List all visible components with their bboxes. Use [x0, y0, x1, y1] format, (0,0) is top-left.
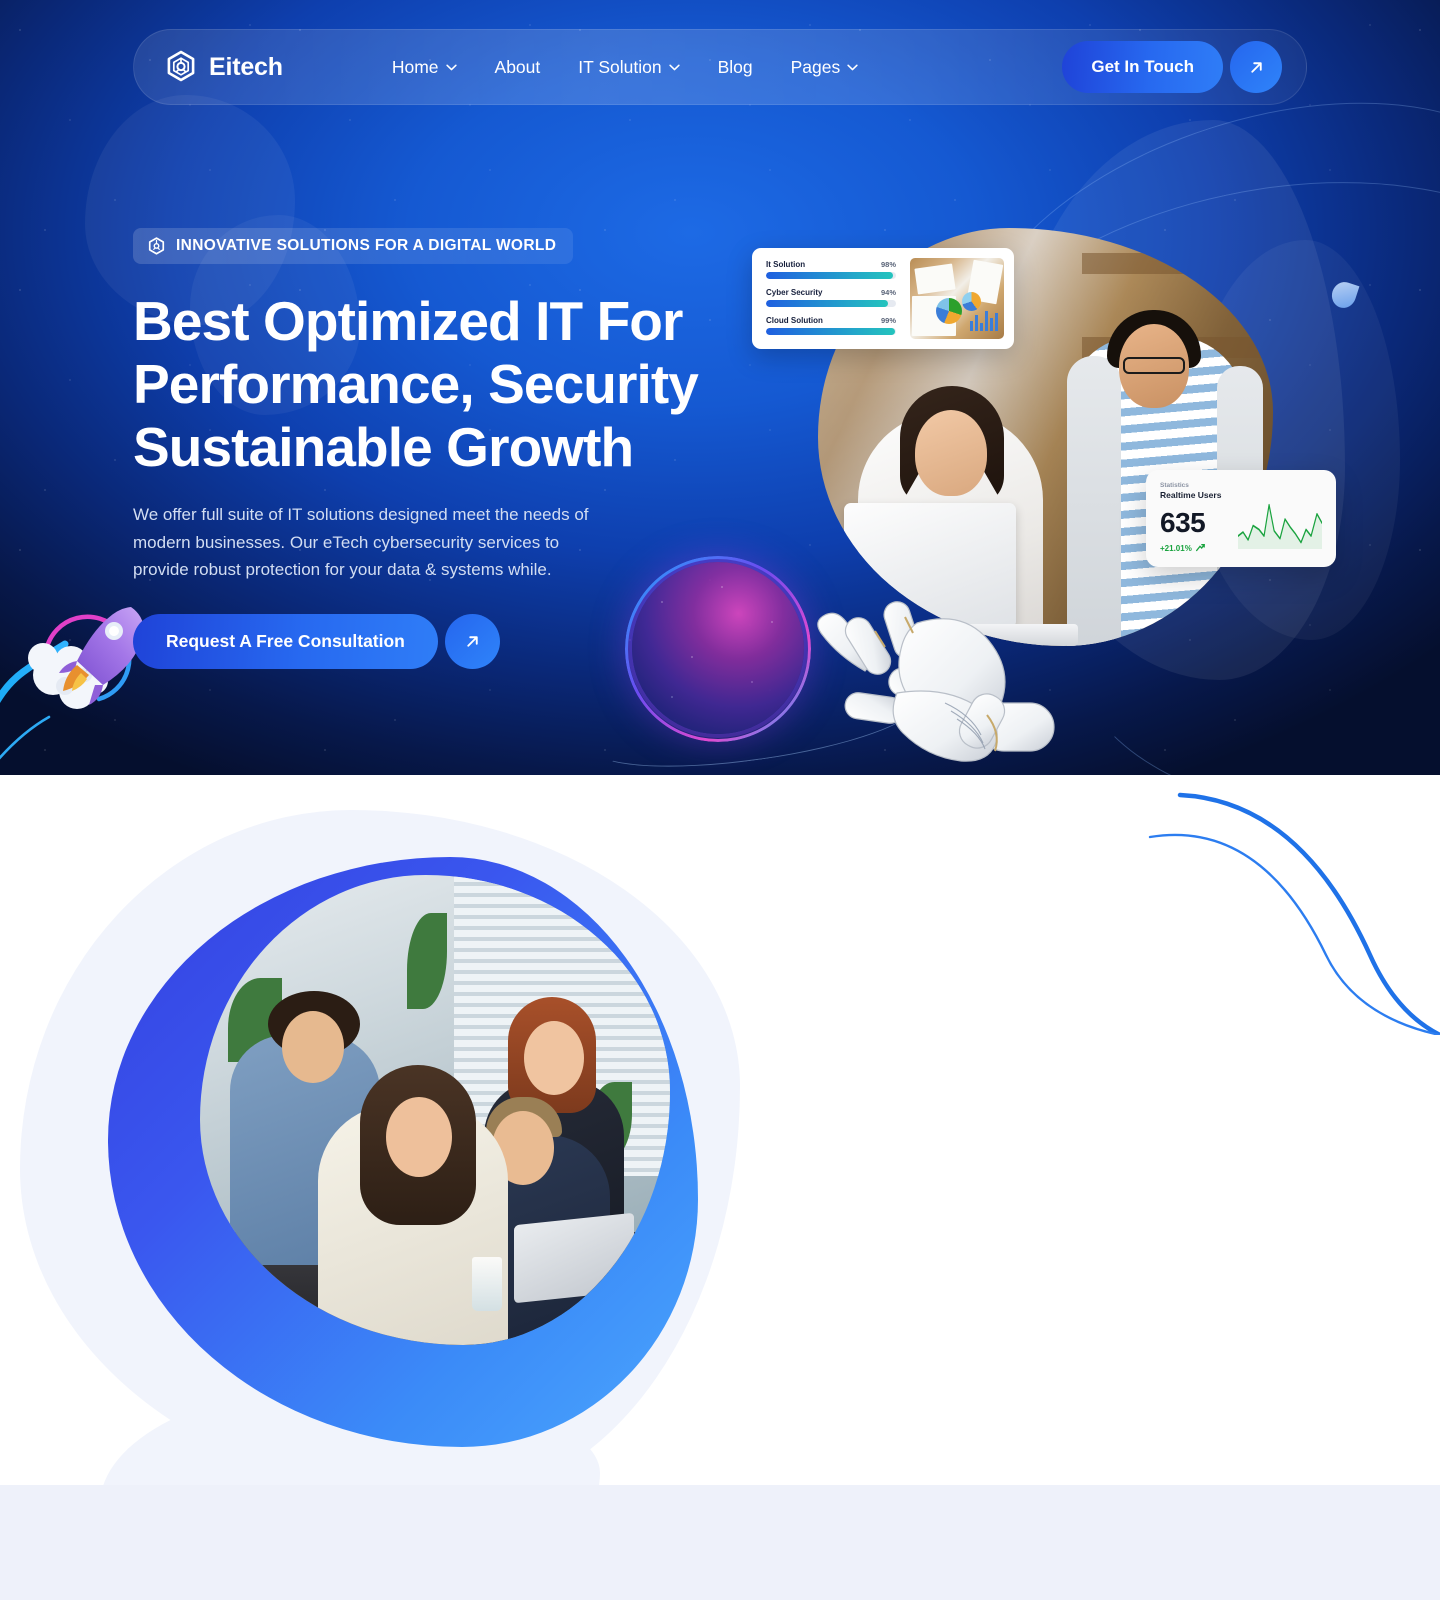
skill-value: 98%	[881, 260, 896, 269]
face	[524, 1021, 584, 1095]
stats-number: 635	[1160, 509, 1238, 537]
skill-label: It Solution	[766, 260, 805, 269]
skill-row: It Solution 98%	[766, 260, 910, 279]
hero-section: It Solution 98% Cyber Security 94% Cloud…	[0, 0, 1440, 775]
brand-name: Eitech	[209, 53, 283, 82]
stats-delta: +21.01%	[1160, 543, 1238, 553]
about-team-photo	[200, 875, 670, 1345]
analytics-photo	[910, 258, 1004, 339]
nav-item-pages[interactable]: Pages	[791, 57, 859, 78]
nav-item-label: About	[495, 57, 541, 78]
nav-item-label: Home	[392, 57, 439, 78]
hero-skills-card: It Solution 98% Cyber Security 94% Cloud…	[752, 248, 1014, 349]
arrow-up-right-icon	[1248, 59, 1265, 76]
skill-value: 94%	[881, 288, 896, 297]
stats-caption: Statistics	[1160, 482, 1238, 489]
meeting-photo	[200, 875, 670, 1345]
nav-item-home[interactable]: Home	[392, 57, 457, 78]
robot-hand-icon	[805, 575, 1060, 775]
hero-heading: Best Optimized IT For Performance, Secur…	[133, 290, 703, 479]
chevron-down-icon	[669, 64, 680, 71]
hero-cta-group: Request A Free Consultation	[133, 614, 733, 669]
skill-label: Cyber Security	[766, 288, 822, 297]
glasses-icon	[1123, 357, 1185, 374]
face	[386, 1097, 452, 1177]
hero-stats-card: Statistics Realtime Users 635 +21.01%	[1146, 470, 1336, 567]
skill-fill	[766, 300, 888, 307]
nav-item-blog[interactable]: Blog	[718, 57, 753, 78]
chevron-down-icon	[847, 64, 858, 71]
skill-fill	[766, 328, 895, 335]
face	[915, 410, 987, 496]
water-glass	[472, 1257, 502, 1311]
about-decor-curves	[1140, 775, 1440, 1035]
hero-paragraph: We offer full suite of IT solutions desi…	[133, 501, 603, 584]
skill-track	[766, 300, 896, 307]
hexagon-logo-icon	[164, 50, 198, 84]
skill-track	[766, 272, 896, 279]
cardigan-left	[1067, 356, 1121, 646]
nav-item-label: Blog	[718, 57, 753, 78]
nav-links: Home About IT Solution Blog Pages	[392, 57, 858, 78]
get-in-touch-button[interactable]: Get In Touch	[1062, 41, 1223, 93]
nav-item-label: Pages	[791, 57, 841, 78]
skill-label: Cloud Solution	[766, 316, 823, 325]
hexagon-logo-icon	[147, 237, 166, 256]
hero-content: INNOVATIVE SOLUTIONS FOR A DIGITAL WORLD…	[133, 228, 733, 669]
realtime-users-sparkline	[1238, 482, 1322, 555]
about-section: ABOUT ETECH IT SOLUTION Dedicated To Del…	[0, 775, 1440, 1485]
skill-row: Cloud Solution 99%	[766, 316, 910, 335]
stats-title: Realtime Users	[1160, 490, 1238, 500]
brand[interactable]: Eitech	[164, 50, 283, 84]
bottom-section-strip	[0, 1485, 1440, 1600]
trend-up-icon	[1195, 543, 1205, 553]
skill-track	[766, 328, 896, 335]
stats-delta-value: +21.01%	[1160, 544, 1192, 553]
hero-eyebrow-label: INNOVATIVE SOLUTIONS FOR A DIGITAL WORLD	[176, 237, 556, 255]
chevron-down-icon	[446, 64, 457, 71]
hero-request-consultation-button[interactable]: Request A Free Consultation	[133, 614, 438, 669]
skill-value: 99%	[881, 316, 896, 325]
plant	[407, 913, 447, 1009]
skill-row: Cyber Security 94%	[766, 288, 910, 307]
nav-item-about[interactable]: About	[495, 57, 541, 78]
nav-cta-group: Get In Touch	[1062, 41, 1282, 93]
hero-eyebrow-badge: INNOVATIVE SOLUTIONS FOR A DIGITAL WORLD	[133, 228, 573, 264]
hero-request-consultation-arrow-button[interactable]	[445, 614, 500, 669]
arrow-up-right-icon	[464, 633, 481, 650]
laptop	[514, 1213, 634, 1304]
face	[282, 1011, 344, 1083]
skill-fill	[766, 272, 893, 279]
nav-item-it-solution[interactable]: IT Solution	[578, 57, 679, 78]
get-in-touch-arrow-button[interactable]	[1230, 41, 1282, 93]
main-navbar: Eitech Home About IT Solution Blog Pages	[133, 29, 1307, 105]
shelf	[1082, 253, 1264, 274]
nav-item-label: IT Solution	[578, 57, 661, 78]
